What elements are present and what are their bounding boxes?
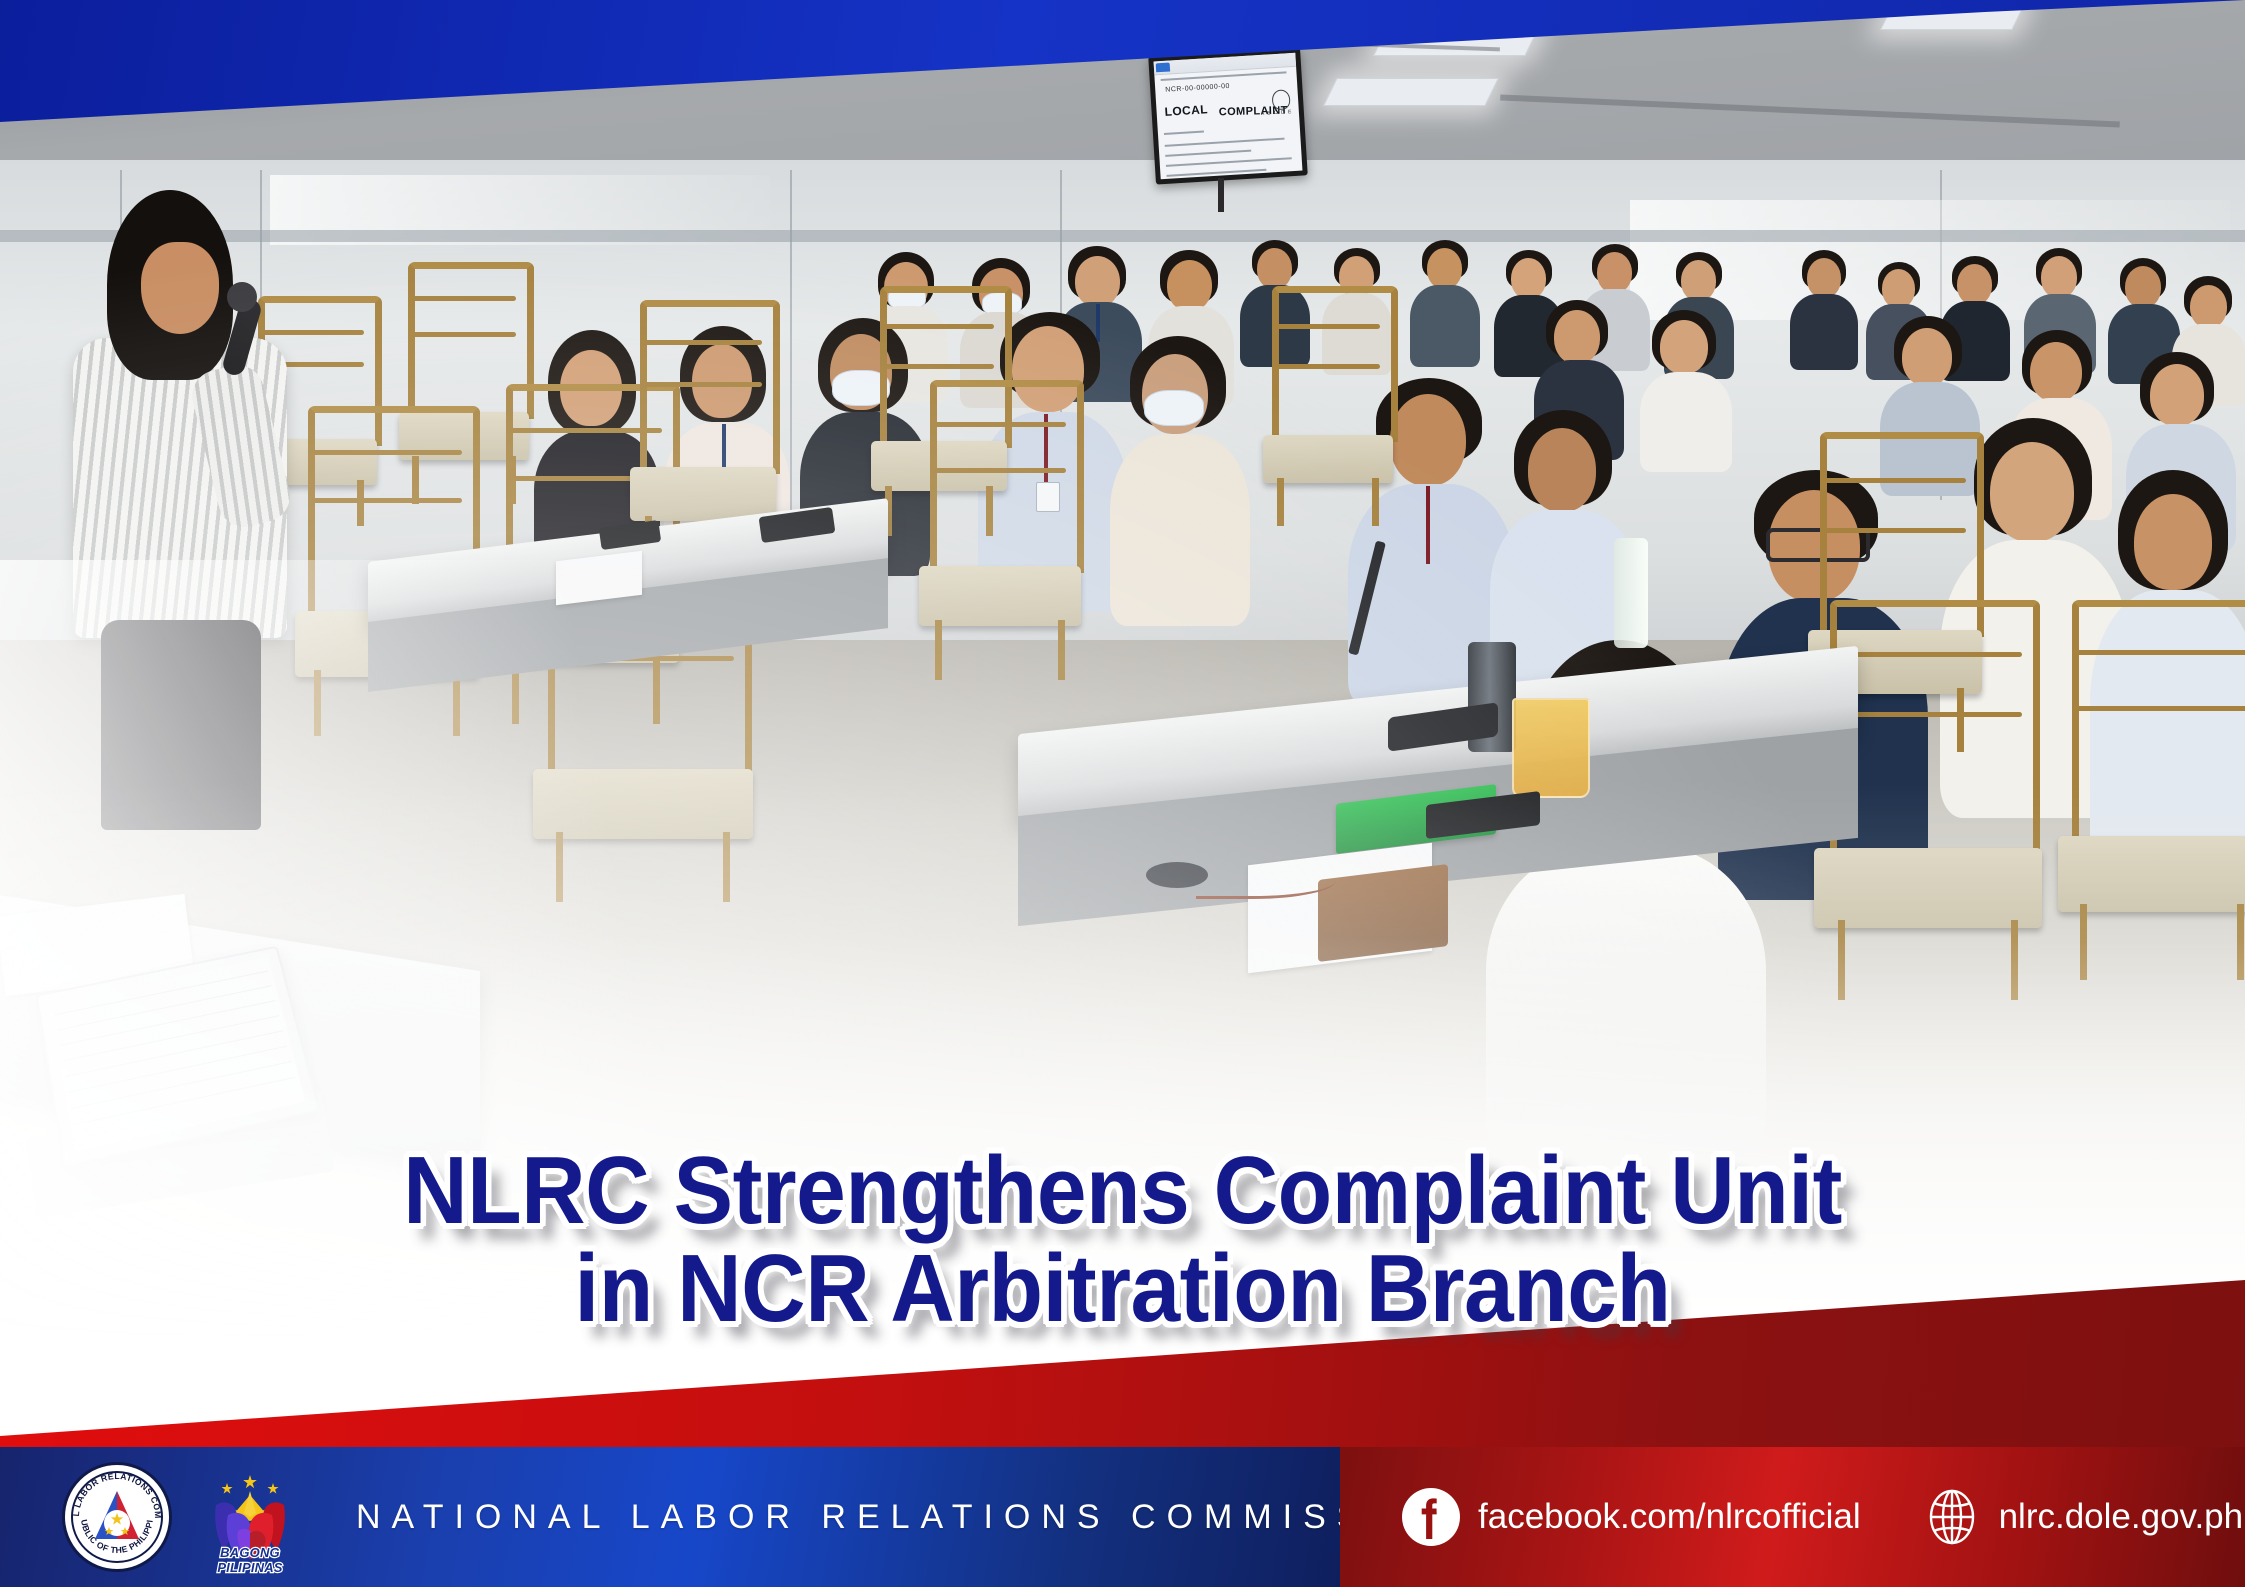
facebook-contact[interactable]: facebook.com/nlrcofficial (1402, 1488, 1861, 1546)
footer-bar: NATIONAL LABOR RELATIONS COMMISSION REPU… (0, 1447, 2245, 1587)
facebook-url[interactable]: facebook.com/nlrcofficial (1478, 1497, 1861, 1537)
poster-canvas: NCR-00-00000-00 LOCAL COMPLAINT A B C D … (0, 0, 2245, 1587)
footer-right-section: facebook.com/nlrcofficial (1340, 1447, 2245, 1587)
website-url[interactable]: nlrc.dole.gov.ph (1999, 1497, 2244, 1537)
bagong-pilipinas-logo-icon: BAGONG PILIPINAS (194, 1461, 306, 1573)
globe-glyph (1923, 1488, 1981, 1546)
website-contact[interactable]: nlrc.dole.gov.ph (1923, 1488, 2244, 1546)
headline-line-1: NLRC Strengthens Complaint Unit (79, 1142, 2167, 1240)
headline-line-2: in NCR Arbitration Branch (79, 1240, 2167, 1338)
facebook-glyph (1413, 1495, 1449, 1539)
footer-left-section: NATIONAL LABOR RELATIONS COMMISSION REPU… (0, 1447, 1340, 1587)
seal-triangle-mark (65, 1465, 169, 1569)
poster-headline: NLRC Strengthens Complaint Unit in NCR A… (79, 1142, 2167, 1338)
globe-icon[interactable] (1923, 1488, 1981, 1546)
organization-name: NATIONAL LABOR RELATIONS COMMISSION (356, 1498, 1464, 1537)
nlrc-seal-icon: NATIONAL LABOR RELATIONS COMMISSION REPU… (62, 1462, 172, 1572)
facebook-icon[interactable] (1402, 1488, 1460, 1546)
bagong-pilipinas-label: BAGONG PILIPINAS (190, 1545, 310, 1575)
